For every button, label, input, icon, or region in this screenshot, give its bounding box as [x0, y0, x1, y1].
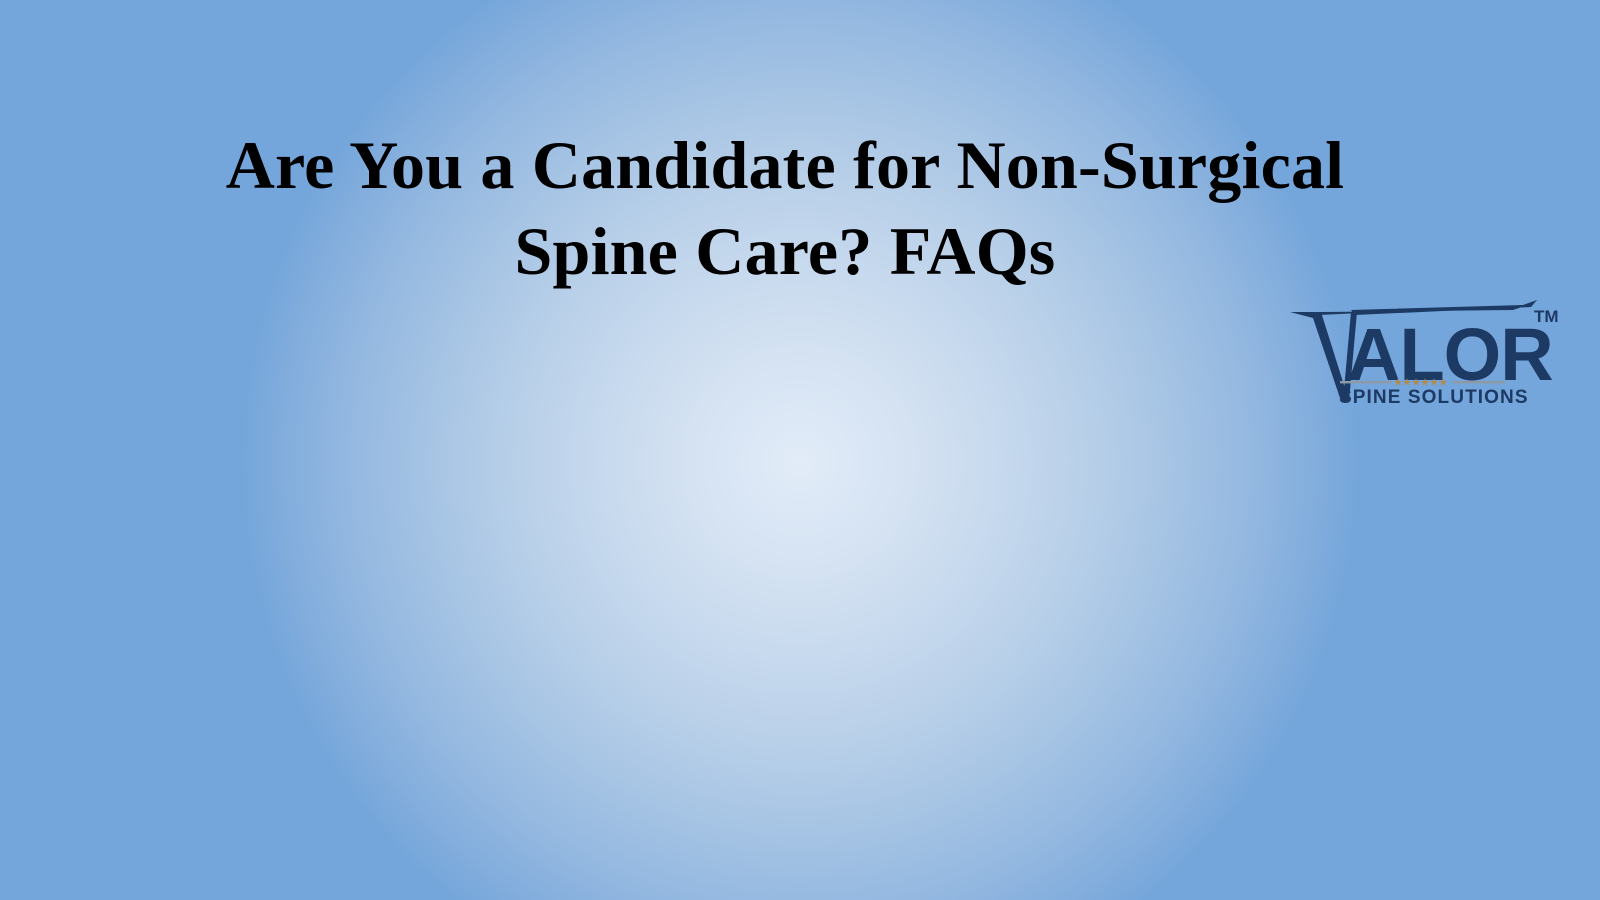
- logo-trademark-icon: TM: [1534, 307, 1559, 326]
- slide-title: Are You a Candidate for Non-Surgical Spi…: [120, 122, 1450, 294]
- svg-text:ALOR: ALOR: [1347, 313, 1553, 396]
- logo-tagline: SPINE SOLUTIONS: [1339, 387, 1529, 408]
- title-line-2: Spine Care? FAQs: [120, 208, 1450, 294]
- logo-tagline-text: SPINE SOLUTIONS: [1339, 387, 1529, 408]
- title-line-1: Are You a Candidate for Non-Surgical: [120, 122, 1450, 208]
- logo-wordmark: ALOR: [1347, 313, 1553, 396]
- logo-artwork: ALOR TM SPINE SO: [1285, 296, 1560, 408]
- slide-canvas: Are You a Candidate for Non-Surgical Spi…: [0, 0, 1600, 900]
- valor-spine-solutions-logo: ALOR TM SPINE SO: [1285, 296, 1560, 408]
- svg-text:TM: TM: [1534, 307, 1559, 326]
